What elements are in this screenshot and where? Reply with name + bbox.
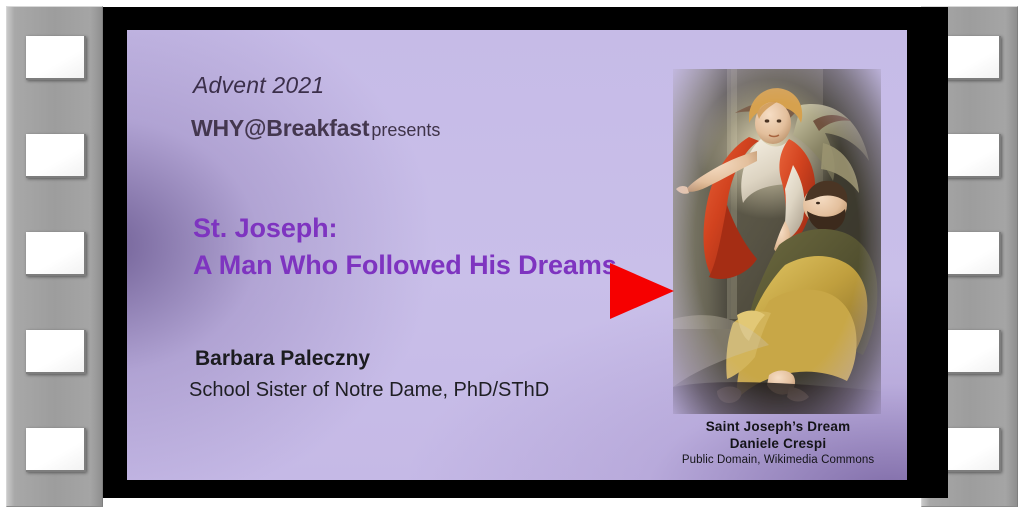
film-strip-left: [6, 6, 103, 507]
presents-label: presents: [371, 120, 440, 140]
video-slide-stage: Advent 2021 WHY@Breakfastpresents St. Jo…: [0, 0, 1024, 513]
artwork-artist: Daniele Crespi: [647, 435, 907, 452]
video-frame: Advent 2021 WHY@Breakfastpresents St. Jo…: [103, 7, 948, 498]
play-triangle-icon: [610, 263, 674, 319]
sprocket-hole: [941, 428, 1001, 472]
author-credentials: School Sister of Notre Dame, PhD/SThD: [189, 379, 549, 402]
slide-title: St. Joseph: A Man Who Followed His Dream…: [193, 210, 617, 284]
sprocket-hole: [26, 428, 86, 472]
brand-name: WHY@Breakfast: [191, 115, 369, 141]
presentation-slide: Advent 2021 WHY@Breakfastpresents St. Jo…: [127, 30, 907, 480]
author-name: Barbara Paleczny: [195, 347, 370, 371]
artwork-license: Public Domain, Wikimedia Commons: [647, 452, 907, 468]
artwork-caption: Saint Joseph’s Dream Daniele Crespi Publ…: [647, 418, 907, 468]
slide-eyebrow: Advent 2021: [193, 72, 324, 99]
play-button[interactable]: [610, 263, 674, 319]
artwork-title: Saint Joseph’s Dream: [647, 418, 907, 435]
sprocket-hole: [26, 36, 86, 80]
slide-title-line-1: St. Joseph:: [193, 213, 337, 243]
sprocket-hole: [26, 232, 86, 276]
artwork-container: [673, 69, 881, 414]
sprocket-hole: [941, 330, 1001, 374]
saint-joseph-dream-painting: [673, 69, 881, 414]
sprocket-hole: [941, 134, 1001, 178]
sprocket-hole: [941, 232, 1001, 276]
sprocket-hole: [26, 330, 86, 374]
slide-title-line-2: A Man Who Followed His Dreams: [193, 250, 617, 280]
slide-brand-line: WHY@Breakfastpresents: [191, 115, 440, 142]
sprocket-hole: [941, 36, 1001, 80]
sprocket-hole: [26, 134, 86, 178]
